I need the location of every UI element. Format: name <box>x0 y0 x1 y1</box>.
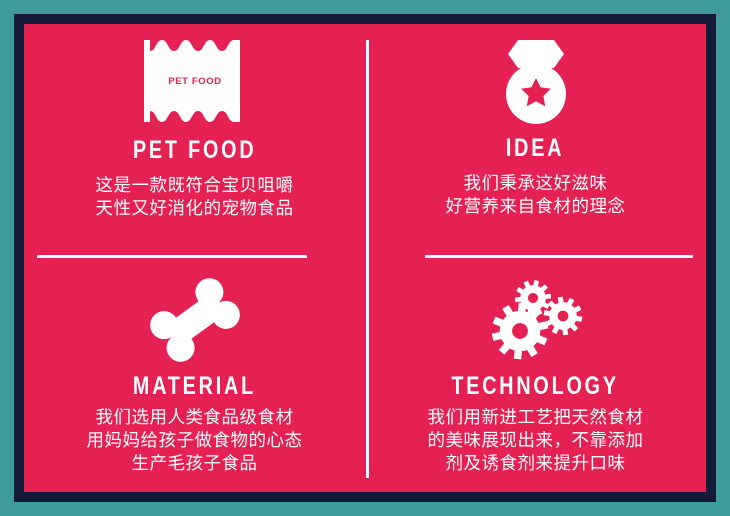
feature-description-idea: 我们秉承这好滋味 好营养来自食材的理念 <box>446 173 626 219</box>
poster-root: PET FOOD PET FOOD 这是一款既符合宝贝咀嚼 天性又好消化的宠物食… <box>0 0 730 516</box>
pet-food-bag-icon: PET FOOD <box>144 38 246 124</box>
feature-cell-pet-food: PET FOOD PET FOOD 这是一款既符合宝贝咀嚼 天性又好消化的宠物食… <box>24 24 365 258</box>
feature-description-technology: 我们用新进工艺把天然食材 的美味展现出来，不靠添加 剂及诱食剂来提升口味 <box>428 407 644 476</box>
feature-grid: PET FOOD PET FOOD 这是一款既符合宝贝咀嚼 天性又好消化的宠物食… <box>24 24 706 492</box>
feature-description-pet-food: 这是一款既符合宝贝咀嚼 天性又好消化的宠物食品 <box>96 175 294 221</box>
feature-heading-idea: IDEA <box>506 136 564 161</box>
feature-heading-pet-food: PET FOOD <box>133 138 256 163</box>
feature-cell-material: MATERIAL 我们选用人类食品级食材 用妈妈给孩子做食物的心态 生产毛孩子食… <box>24 258 365 492</box>
bone-icon <box>143 278 247 362</box>
feature-description-material: 我们选用人类食品级食材 用妈妈给孩子做食物的心态 生产毛孩子食品 <box>87 407 303 476</box>
feature-cell-technology: TECHNOLOGY 我们用新进工艺把天然食材 的美味展现出来，不靠添加 剂及诱… <box>365 258 706 492</box>
gears-icon <box>486 278 586 362</box>
medal-star-icon <box>496 38 576 124</box>
feature-heading-material: MATERIAL <box>133 374 256 399</box>
bag-icon-label: PET FOOD <box>168 76 221 87</box>
feature-cell-idea: IDEA 我们秉承这好滋味 好营养来自食材的理念 <box>365 24 706 258</box>
feature-heading-technology: TECHNOLOGY <box>452 374 619 399</box>
